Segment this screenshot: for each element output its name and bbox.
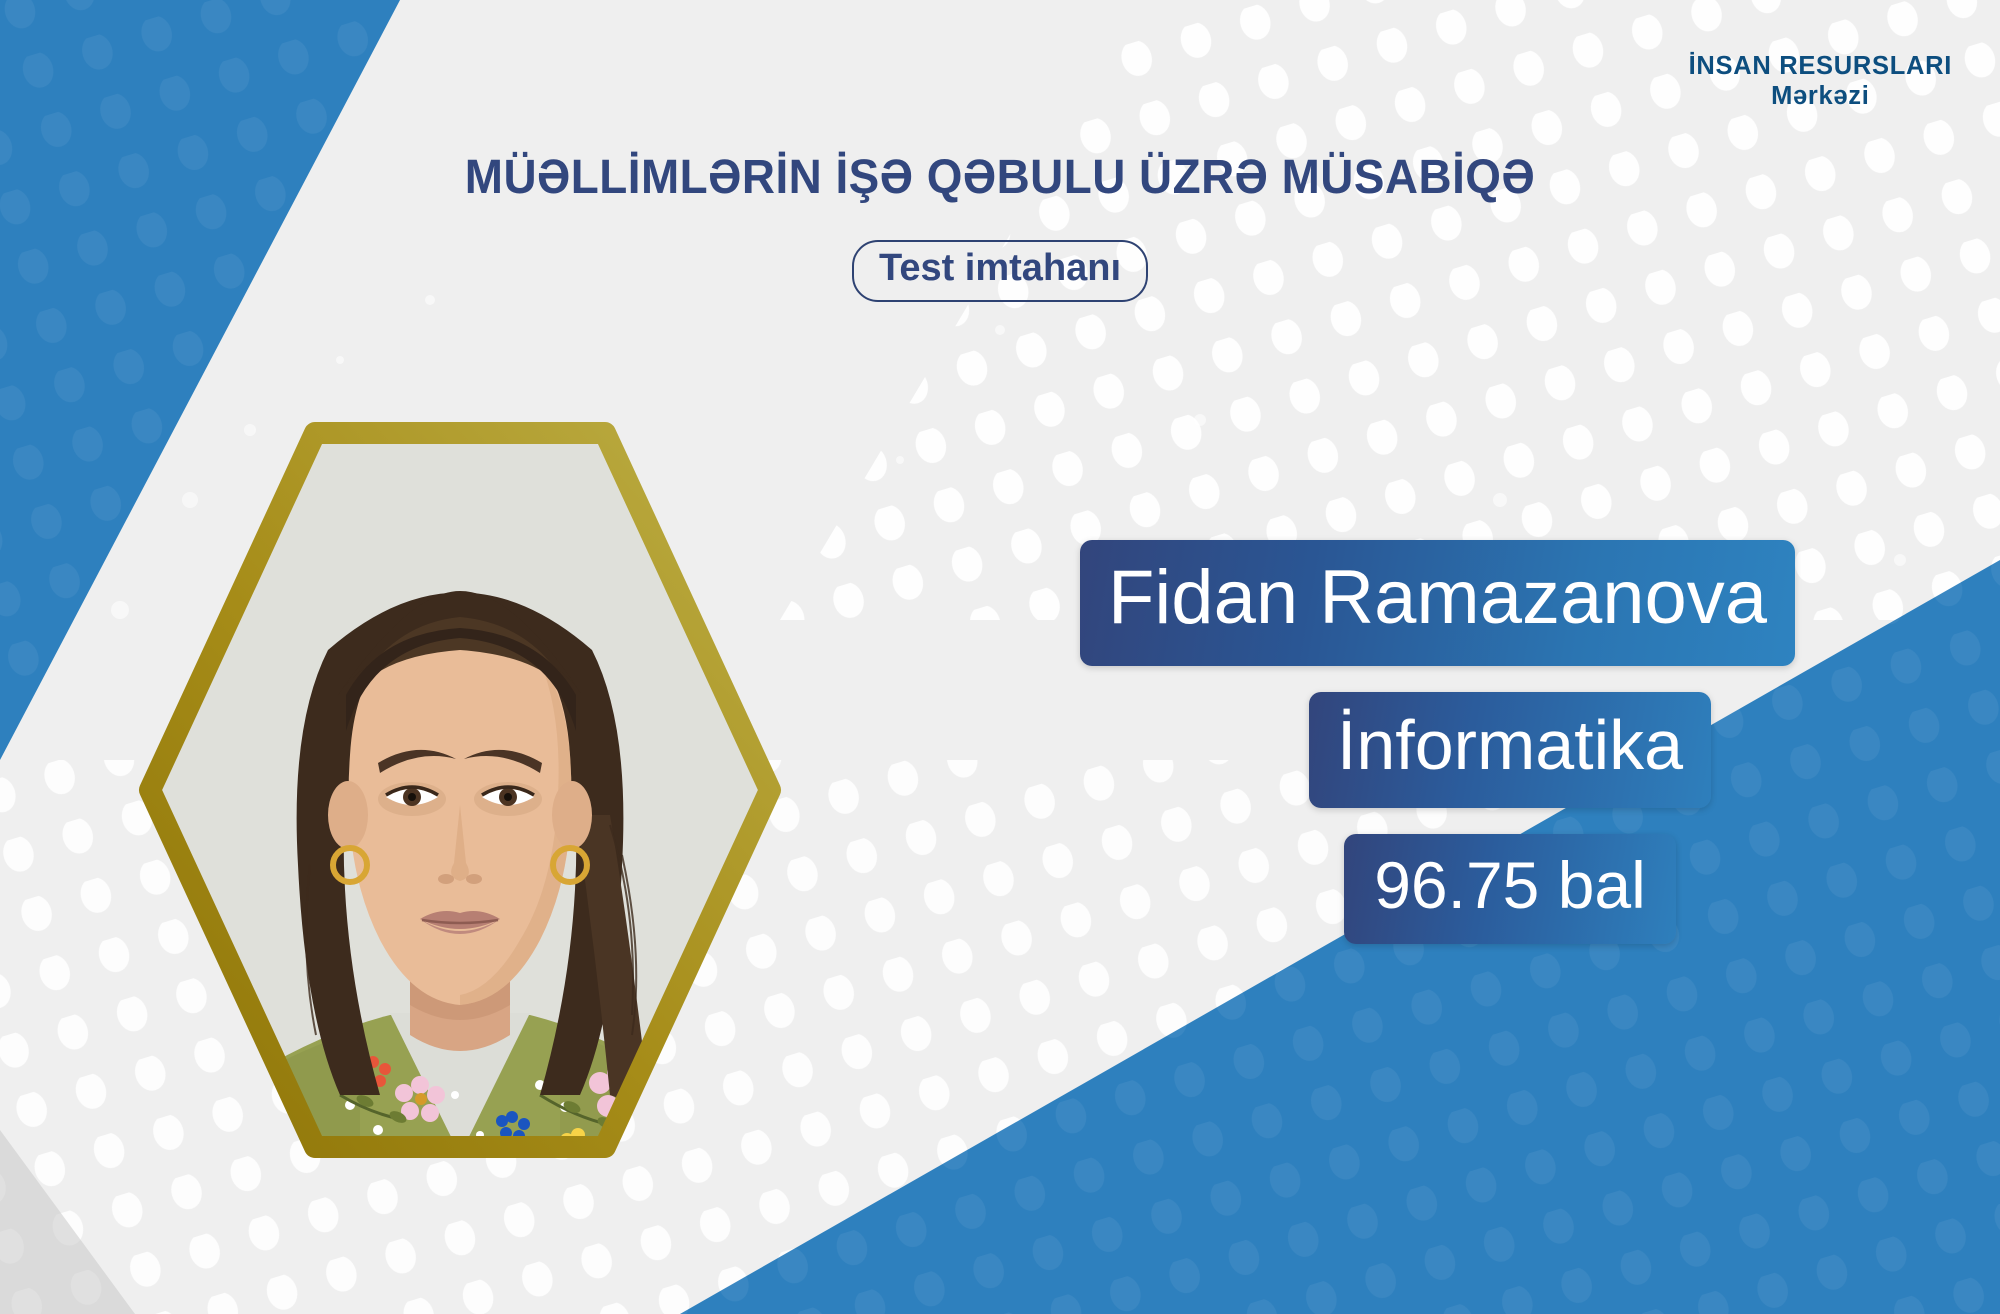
brand-logo: İNSAN RESURSLARI Mərkəzi [1689, 52, 1952, 111]
logo-line-2: Mərkəzi [1689, 82, 1952, 112]
candidate-photo [110, 395, 810, 1185]
candidate-subject-badge: İnformatika [1309, 692, 1711, 808]
candidate-name-row: Fidan Ramazanova [1080, 540, 1940, 666]
poster-canvas: İNSAN RESURSLARI Mərkəzi MÜƏLLİMLƏRİN İŞ… [0, 0, 2000, 1314]
portrait-hexagon [110, 395, 810, 1185]
subtitle-container: Test imtahanı [0, 240, 2000, 302]
candidate-name-badge: Fidan Ramazanova [1080, 540, 1795, 666]
candidate-info-panel: Fidan Ramazanova İnformatika 96.75 bal [1080, 540, 1940, 944]
logo-line-1: İNSAN RESURSLARI [1689, 52, 1952, 80]
candidate-score-badge: 96.75 bal [1344, 834, 1676, 944]
portrait-hexagon-svg [110, 395, 810, 1185]
candidate-subject-row: İnformatika [1080, 692, 1940, 808]
candidate-score-row: 96.75 bal [1080, 834, 1940, 944]
page-title: MÜƏLLİMLƏRİN İŞƏ QƏBULU ÜZRƏ MÜSABİQƏ [45, 150, 1955, 205]
exam-type-badge: Test imtahanı [852, 240, 1148, 302]
